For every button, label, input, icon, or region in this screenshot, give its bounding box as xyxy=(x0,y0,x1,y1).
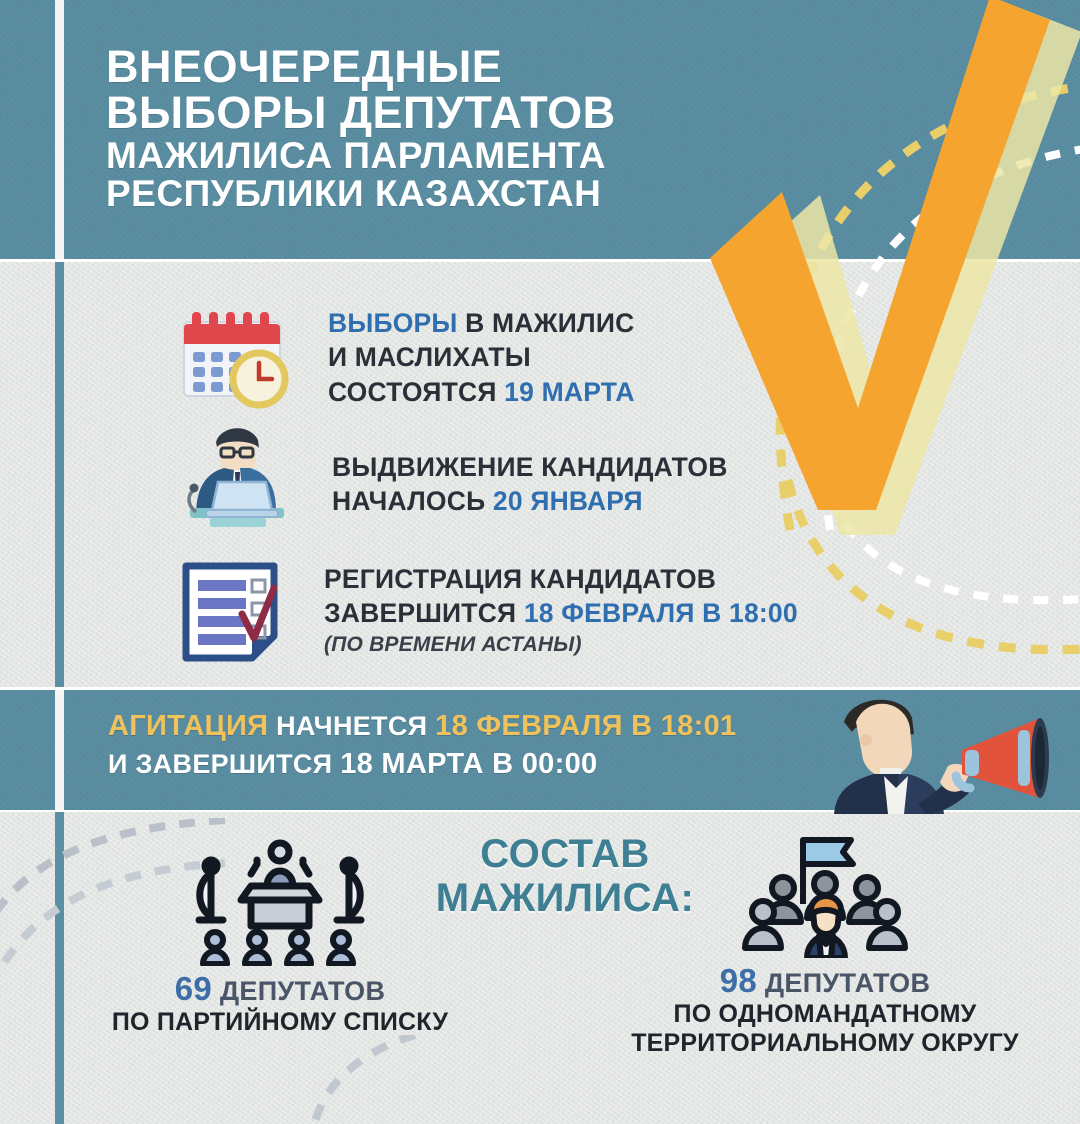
stat-party-list-unit: ДЕПУТАТОВ xyxy=(212,976,385,1006)
registration-line2-rest: ЗАВЕРШИТСЯ xyxy=(324,598,524,628)
registration-deadline: 18 ФЕВРАЛЯ В 18:00 xyxy=(524,598,798,628)
schedule-item-elections-text: ВЫБОРЫ В МАЖИЛИС И МАСЛИХАТЫ СОСТОЯТСЯ 1… xyxy=(328,306,635,409)
schedule-vertical-rule xyxy=(55,262,64,690)
title-line-2: ВЫБОРЫ ДЕПУТАТОВ xyxy=(106,90,616,136)
stat-single-mandate-count: 98 ДЕПУТАТОВ xyxy=(615,962,1035,1000)
agitation-end-date: 18 МАРТА В 00:00 xyxy=(340,748,597,780)
nomination-line1: ВЫДВИЖЕНИЕ КАНДИДАТОВ xyxy=(332,450,728,484)
calendar-clock-icon xyxy=(176,300,294,417)
agitation-line-2: И ЗАВЕРШИТСЯ 18 МАРТА В 00:00 xyxy=(108,746,736,784)
elections-line2: И МАСЛИХАТЫ xyxy=(328,340,635,374)
stat-party-list-description: ПО ПАРТИЙНОМУ СПИСКУ xyxy=(70,1008,490,1037)
elections-line1-rest: В МАЖИЛИС xyxy=(458,308,635,338)
ballot-checklist-icon xyxy=(176,558,284,671)
schedule-item-elections: ВЫБОРЫ В МАЖИЛИС И МАСЛИХАТЫ СОСТОЯТСЯ 1… xyxy=(176,300,635,417)
stat-single-mandate-description-2: ТЕРРИТОРИАЛЬНОМУ ОКРУГУ xyxy=(615,1029,1035,1058)
schedule-item-registration: РЕГИСТРАЦИЯ КАНДИДАТОВ ЗАВЕРШИТСЯ 18 ФЕВ… xyxy=(176,558,798,671)
composition-vertical-rule xyxy=(55,812,64,1124)
nomination-line2-rest: НАЧАЛОСЬ xyxy=(332,486,493,516)
elections-keyword: ВЫБОРЫ xyxy=(328,308,458,338)
stat-single-mandate-unit: ДЕПУТАТОВ xyxy=(757,968,930,998)
orange-checkmark-icon xyxy=(690,0,1080,535)
title-line-4: РЕСПУБЛИКИ КАЗАХСТАН xyxy=(106,175,616,213)
crowd-with-flag-icon xyxy=(615,830,1035,958)
agitation-text: АГИТАЦИЯ НАЧНЕТСЯ 18 ФЕВРАЛЯ В 18:01 И З… xyxy=(108,708,736,783)
agitation-vertical-rule xyxy=(55,690,64,812)
nomination-date: 20 ЯНВАРЯ xyxy=(493,486,643,516)
agitation-line1-white: НАЧНЕТСЯ xyxy=(268,711,435,741)
elections-line3-rest: СОСТОЯТСЯ xyxy=(328,377,504,407)
registration-line1: РЕГИСТРАЦИЯ КАНДИДАТОВ xyxy=(324,562,798,596)
agitation-start-date: 18 ФЕВРАЛЯ В 18:01 xyxy=(435,710,736,742)
man-with-megaphone-icon xyxy=(822,692,1062,814)
podium-audience-icon xyxy=(70,838,490,966)
stat-party-list-number: 69 xyxy=(175,970,212,1007)
stat-single-mandate-description-1: ПО ОДНОМАНДАТНОМУ xyxy=(615,1000,1035,1029)
schedule-item-registration-text: РЕГИСТРАЦИЯ КАНДИДАТОВ ЗАВЕРШИТСЯ 18 ФЕВ… xyxy=(324,562,798,658)
agitation-line-1: АГИТАЦИЯ НАЧНЕТСЯ 18 ФЕВРАЛЯ В 18:01 xyxy=(108,708,736,746)
title-line-1: ВНЕОЧЕРЕДНЫЕ xyxy=(106,44,616,90)
infographic-poster: ВНЕОЧЕРЕДНЫЕ ВЫБОРЫ ДЕПУТАТОВ МАЖИЛИСА П… xyxy=(0,0,1080,1124)
agitation-keyword: АГИТАЦИЯ xyxy=(108,710,268,742)
page-title: ВНЕОЧЕРЕДНЫЕ ВЫБОРЫ ДЕПУТАТОВ МАЖИЛИСА П… xyxy=(106,44,616,213)
stat-party-list-count: 69 ДЕПУТАТОВ xyxy=(70,970,490,1008)
title-line-3: МАЖИЛИСА ПАРЛАМЕНТА xyxy=(106,137,616,175)
elections-date: 19 МАРТА xyxy=(504,377,635,407)
stat-single-mandate: 98 ДЕПУТАТОВ ПО ОДНОМАНДАТНОМУ ТЕРРИТОРИ… xyxy=(615,830,1035,1058)
registration-timezone-note: (ПО ВРЕМЕНИ АСТАНЫ) xyxy=(324,631,798,658)
agitation-line2-rest: И ЗАВЕРШИТСЯ xyxy=(108,749,340,779)
band-seam xyxy=(0,687,1080,690)
stat-party-list: 69 ДЕПУТАТОВ ПО ПАРТИЙНОМУ СПИСКУ xyxy=(70,838,490,1037)
schedule-item-nomination: ВЫДВИЖЕНИЕ КАНДИДАТОВ НАЧАЛОСЬ 20 ЯНВАРЯ xyxy=(176,420,728,537)
header-vertical-rule xyxy=(55,0,64,262)
speaker-podium-laptop-icon xyxy=(176,420,296,537)
schedule-item-nomination-text: ВЫДВИЖЕНИЕ КАНДИДАТОВ НАЧАЛОСЬ 20 ЯНВАРЯ xyxy=(332,450,728,519)
stat-single-mandate-number: 98 xyxy=(720,962,757,999)
